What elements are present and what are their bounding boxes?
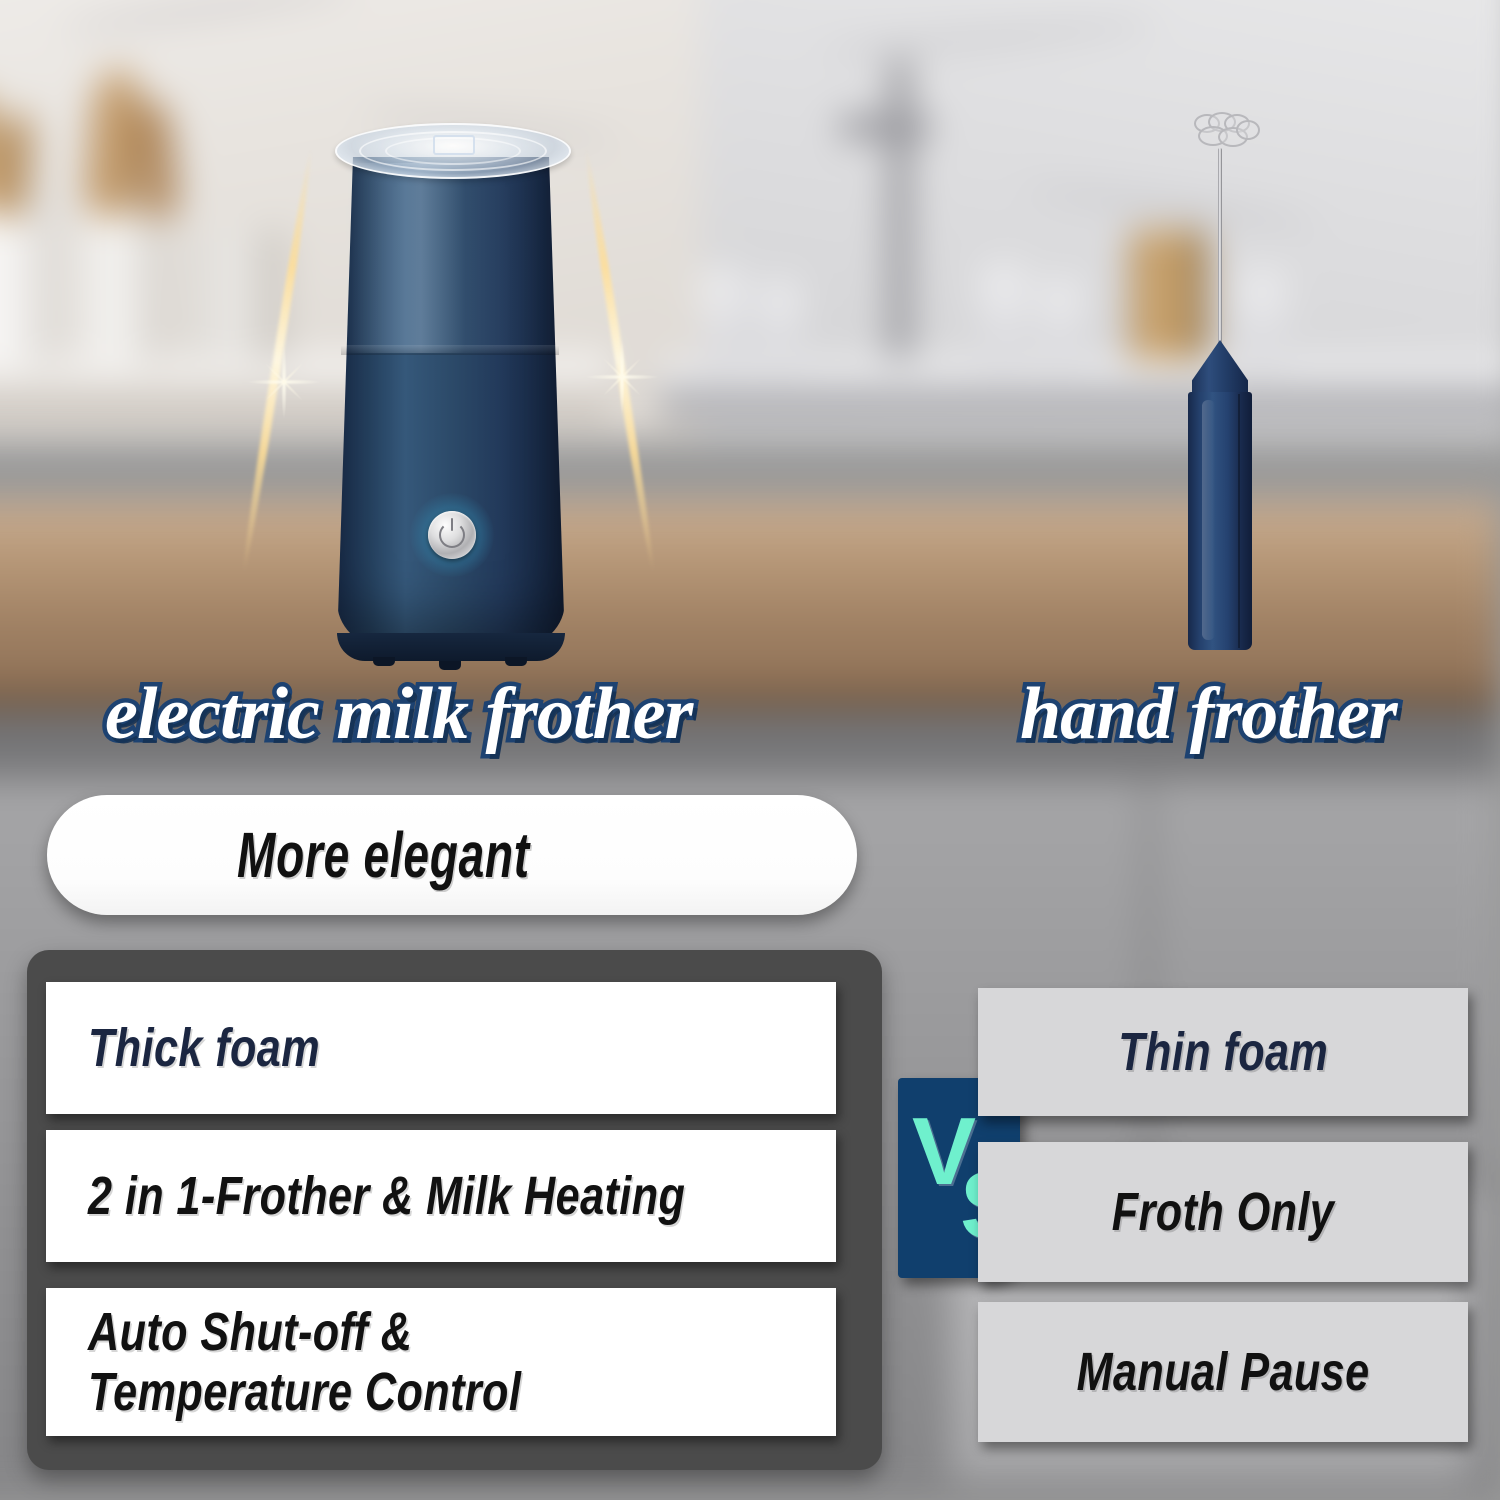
right-feature-box-3: Manual Pause <box>978 1302 1468 1442</box>
hand-frother-grip <box>1188 392 1252 650</box>
left-feature-box-1: Thick foam <box>46 982 836 1114</box>
power-button[interactable] <box>428 511 476 559</box>
infographic-canvas: electric milk frother hand frother More … <box>0 0 1500 1500</box>
hand-frother-grip-seam <box>1238 394 1240 648</box>
frother-lid-tab <box>433 135 475 155</box>
faucet-arm <box>840 115 930 137</box>
hand-frother-cone <box>1192 340 1248 396</box>
frother-base <box>337 633 565 661</box>
label-electric-milk-frother-text: electric milk frother <box>105 673 692 755</box>
counter-right-edge <box>660 388 1500 418</box>
jar-white-small <box>75 208 167 363</box>
hand-frother-grip-highlight <box>1202 400 1215 640</box>
left-feature-label-1: Thick foam <box>88 1018 320 1078</box>
glass-d <box>1040 280 1082 366</box>
label-electric-milk-frother: electric milk frother <box>105 672 692 757</box>
product-electric-milk-frother <box>315 105 585 670</box>
left-feature-box-2: 2 in 1-Frother & Milk Heating <box>46 1130 836 1262</box>
highlight-pill-text: More elegant <box>237 818 530 892</box>
glass-c <box>980 266 1026 366</box>
frother-foot-right <box>505 657 527 666</box>
faucet-stem <box>888 60 912 360</box>
frother-foot-left <box>373 657 395 666</box>
label-hand-frother: hand frother <box>1020 672 1397 757</box>
left-feature-box-3: Auto Shut-off & Temperature Control <box>46 1288 836 1436</box>
highlight-pill: More elegant <box>47 795 857 915</box>
frother-body-highlight <box>345 163 545 353</box>
right-feature-label-3: Manual Pause <box>1077 1341 1370 1403</box>
cabinet-seam-vertical <box>1145 780 1152 1180</box>
frother-seam <box>341 345 559 355</box>
jar-gray <box>190 230 285 362</box>
left-feature-label-2: 2 in 1-Frother & Milk Heating <box>88 1166 685 1226</box>
right-feature-box-1: Thin foam <box>978 988 1468 1116</box>
glass-b <box>760 282 800 366</box>
glass-a <box>700 270 744 366</box>
right-feature-label-1: Thin foam <box>1118 1021 1328 1083</box>
left-feature-label-3: Auto Shut-off & Temperature Control <box>88 1302 648 1423</box>
whisk-head <box>1192 110 1258 152</box>
product-hand-frother <box>1170 110 1280 655</box>
label-hand-frother-text: hand frother <box>1020 673 1397 755</box>
right-feature-box-2: Froth Only <box>978 1142 1468 1282</box>
right-feature-label-2: Froth Only <box>1112 1181 1334 1243</box>
power-icon <box>439 522 465 548</box>
frother-foot-center <box>439 661 461 670</box>
whisk-shaft <box>1218 148 1222 348</box>
